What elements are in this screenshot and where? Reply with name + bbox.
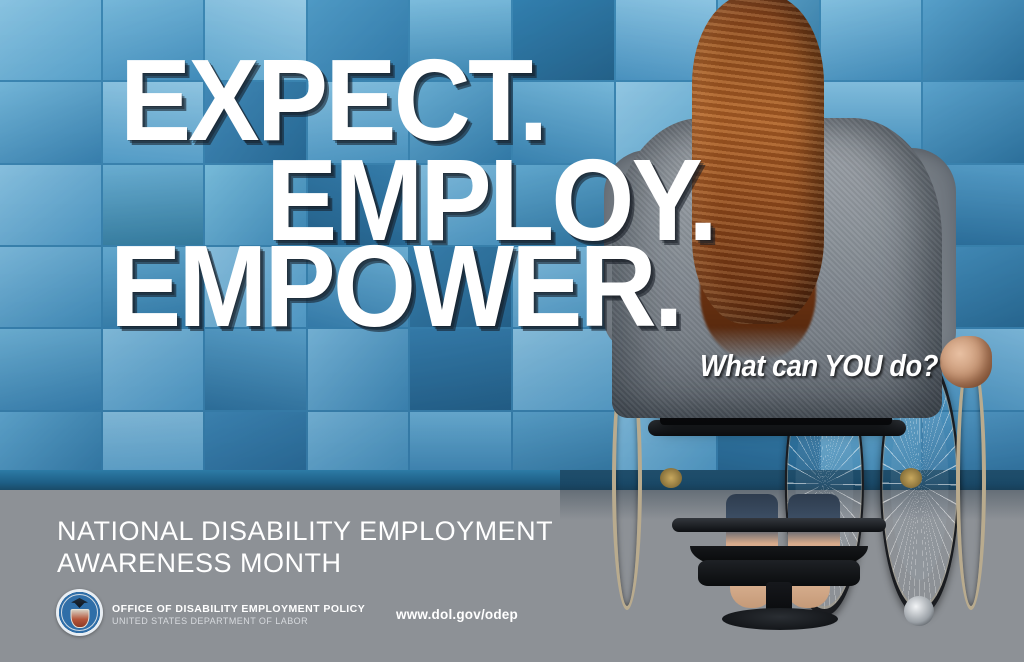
wheelchair-castor-wheel [904, 596, 934, 626]
poster-canvas: EXPECT. EMPLOY. EMPOWER. What can YOU do… [0, 0, 1024, 662]
campaign-title-line-2: AWARENESS MONTH [57, 548, 553, 580]
wheelchair-hub-left [660, 468, 682, 488]
wheelchair-cross-bar [672, 518, 886, 532]
tagline-what-can-you-do: What can YOU do? [700, 348, 938, 384]
headline-line-empower: EMPOWER. [110, 238, 681, 335]
wheelchair-hub-right [900, 468, 922, 488]
wheelchair-footplate-base [722, 608, 838, 630]
campaign-title: NATIONAL DISABILITY EMPLOYMENT AWARENESS… [57, 516, 553, 579]
website-url[interactable]: www.dol.gov/odep [396, 607, 518, 622]
dol-seal-icon [56, 589, 103, 636]
agency-office-name: OFFICE OF DISABILITY EMPLOYMENT POLICY [112, 603, 365, 615]
campaign-title-line-1: NATIONAL DISABILITY EMPLOYMENT [57, 516, 553, 548]
headline-block: EXPECT. EMPLOY. EMPOWER. [0, 0, 1024, 400]
seal-shield-icon [70, 609, 89, 628]
agency-department-name: UNITED STATES DEPARTMENT OF LABOR [112, 616, 308, 626]
